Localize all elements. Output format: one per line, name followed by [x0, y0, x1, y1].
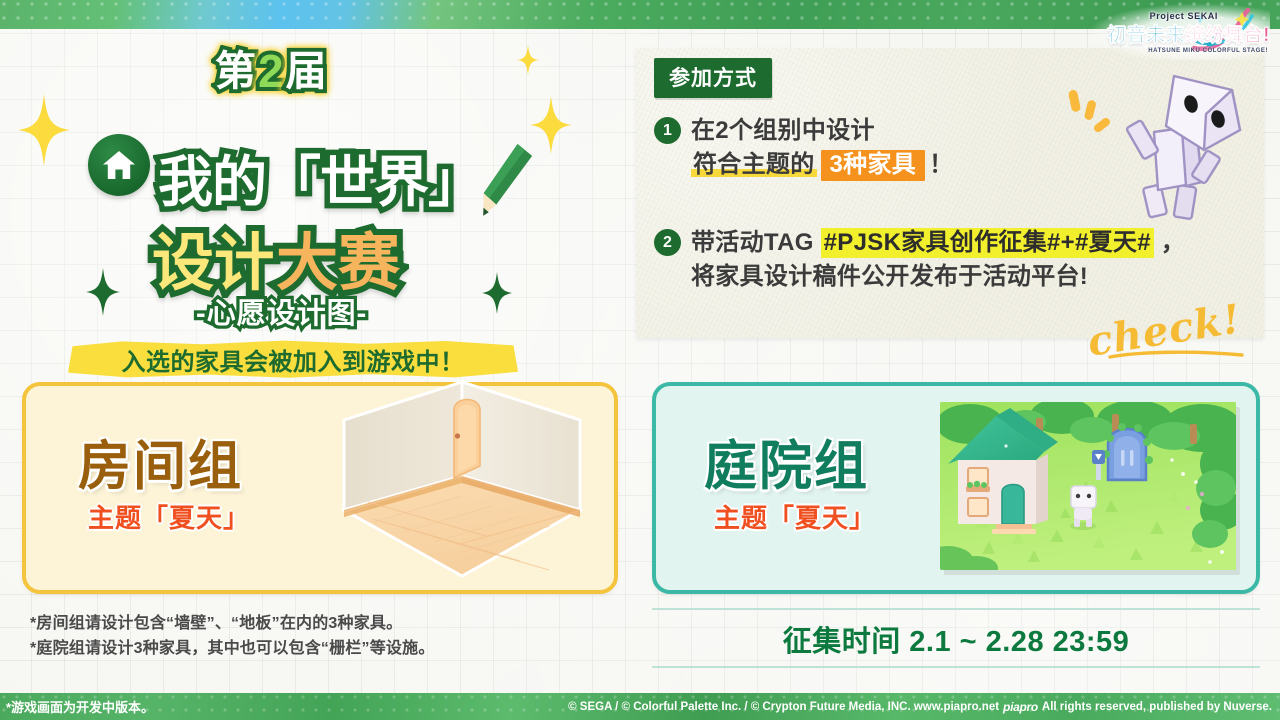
- furniture-count-chip: 3种家具: [821, 150, 926, 181]
- title-line-2: 设计大赛: [152, 212, 400, 302]
- submission-period: 征集时间 2.1 ~ 2.28 23:59: [652, 608, 1260, 670]
- piapro-logo: piapro: [1003, 700, 1038, 714]
- footnotes: *房间组请设计包含“墙壁”、“地板”在内的3种家具。 *庭院组请设计3种家具，其…: [30, 612, 435, 662]
- footer-bar: *游戏画面为开发中版本。 © SEGA / © Colorful Palette…: [0, 693, 1280, 720]
- category-card-garden[interactable]: 庭院组 主题「夏天」: [652, 382, 1260, 594]
- title-line-2-a: 设计: [152, 229, 276, 298]
- footer-copyright-a: © SEGA / © Colorful Palette Inc. / © Cry…: [568, 701, 999, 713]
- card-room-theme: 主题「夏天」: [88, 498, 250, 535]
- title-block: 第 2 届 我的「世界」 设计大赛 -心愿设计图-: [0, 34, 620, 364]
- ordinal-number: 2: [258, 48, 284, 94]
- title-subtitle: -心愿设计图-: [196, 290, 367, 332]
- step-1-line-1: 在2个组别中设计: [691, 114, 953, 148]
- logo-title: 初音未来缤纷舞台!: [1107, 20, 1270, 47]
- step-1-line-2: 符合主题的3种家具！: [691, 148, 953, 182]
- logo-title-accent: 缤纷舞台!: [1185, 25, 1270, 46]
- step-1: 1 在2个组别中设计 符合主题的3种家具！: [654, 114, 953, 182]
- title-line-2-b: 大赛: [276, 229, 400, 298]
- step-1-body: 在2个组别中设计 符合主题的3种家具！: [691, 114, 953, 182]
- ordinal-suffix: 届: [286, 51, 327, 92]
- step-1-number: 1: [654, 117, 681, 144]
- step-2-line-1: 带活动TAG #PJSK家具创作征集#+#夏天# ，: [691, 226, 1185, 260]
- footnote-line-1: *房间组请设计包含“墙壁”、“地板”在内的3种家具。: [30, 612, 435, 637]
- period-text: 征集时间 2.1 ~ 2.28 23:59: [652, 608, 1260, 670]
- logo-title-en: HATSUNE MIKU COLORFUL STAGE!: [1148, 48, 1268, 54]
- house-icon: [88, 134, 150, 196]
- highlight-banner: 入选的家具会被加入到游戏中！: [68, 339, 518, 379]
- step-2: 2 带活动TAG #PJSK家具创作征集#+#夏天# ， 将家具设计稿件公开发布…: [654, 226, 1185, 294]
- card-garden-theme: 主题「夏天」: [714, 498, 876, 535]
- card-garden-title: 庭院组: [704, 424, 869, 500]
- card-room-title: 房间组: [78, 424, 243, 500]
- category-card-room[interactable]: 房间组 主题「夏天」: [22, 382, 618, 594]
- isometric-room-illustration: [328, 380, 596, 598]
- banner-text: 入选的家具会被加入到游戏中！: [68, 339, 518, 379]
- footer-copyright-b: All rights reserved, published by Nuvers…: [1042, 701, 1272, 713]
- sparkle-icon: [86, 268, 120, 316]
- mascot-sparkle-icon: [1068, 86, 1116, 153]
- panel-tag-label: 参加方式: [654, 58, 772, 98]
- title-line-1: 我的「世界」: [158, 137, 482, 217]
- sparkle-icon: [482, 272, 512, 314]
- sparkle-icon: [530, 96, 572, 154]
- step-2-body: 带活动TAG #PJSK家具创作征集#+#夏天# ， 将家具设计稿件公开发布于活…: [691, 226, 1185, 294]
- footer-disclaimer: *游戏画面为开发中版本。: [6, 697, 154, 716]
- garden-game-screenshot: [940, 402, 1236, 570]
- footer-copyright: © SEGA / © Colorful Palette Inc. / © Cry…: [568, 700, 1272, 714]
- sparkle-icon: [517, 45, 539, 75]
- step-2-number: 2: [654, 229, 681, 256]
- pencil-icon: [478, 142, 548, 229]
- ordinal-prefix: 第: [215, 51, 256, 92]
- logo-title-cn: 初音未来: [1107, 25, 1185, 46]
- step-2-line-1-pre: 带活动TAG: [691, 229, 821, 256]
- participation-panel: 参加方式: [636, 48, 1264, 338]
- sparkle-icon: [18, 94, 70, 166]
- poster-root: Project SEKAI 初音未来缤纷舞台! HATSUNE MIKU COL…: [0, 0, 1280, 720]
- step-1-line-2-post: ！: [929, 151, 953, 178]
- event-hashtag: #PJSK家具创作征集#+#夏天#: [821, 228, 1154, 258]
- footnote-line-2: *庭院组请设计3种家具，其中也可以包含“栅栏”等设施。: [30, 637, 435, 662]
- step-1-line-2-pre: 符合主题的: [691, 151, 817, 178]
- period-divider-bottom: [652, 666, 1260, 668]
- ordinal-line: 第 2 届: [215, 48, 327, 94]
- blocky-mascot-icon: [1120, 70, 1248, 243]
- step-2-line-2: 将家具设计稿件公开发布于活动平台!: [691, 260, 1185, 294]
- game-logo: Project SEKAI 初音未来缤纷舞台! HATSUNE MIKU COL…: [1086, 2, 1276, 62]
